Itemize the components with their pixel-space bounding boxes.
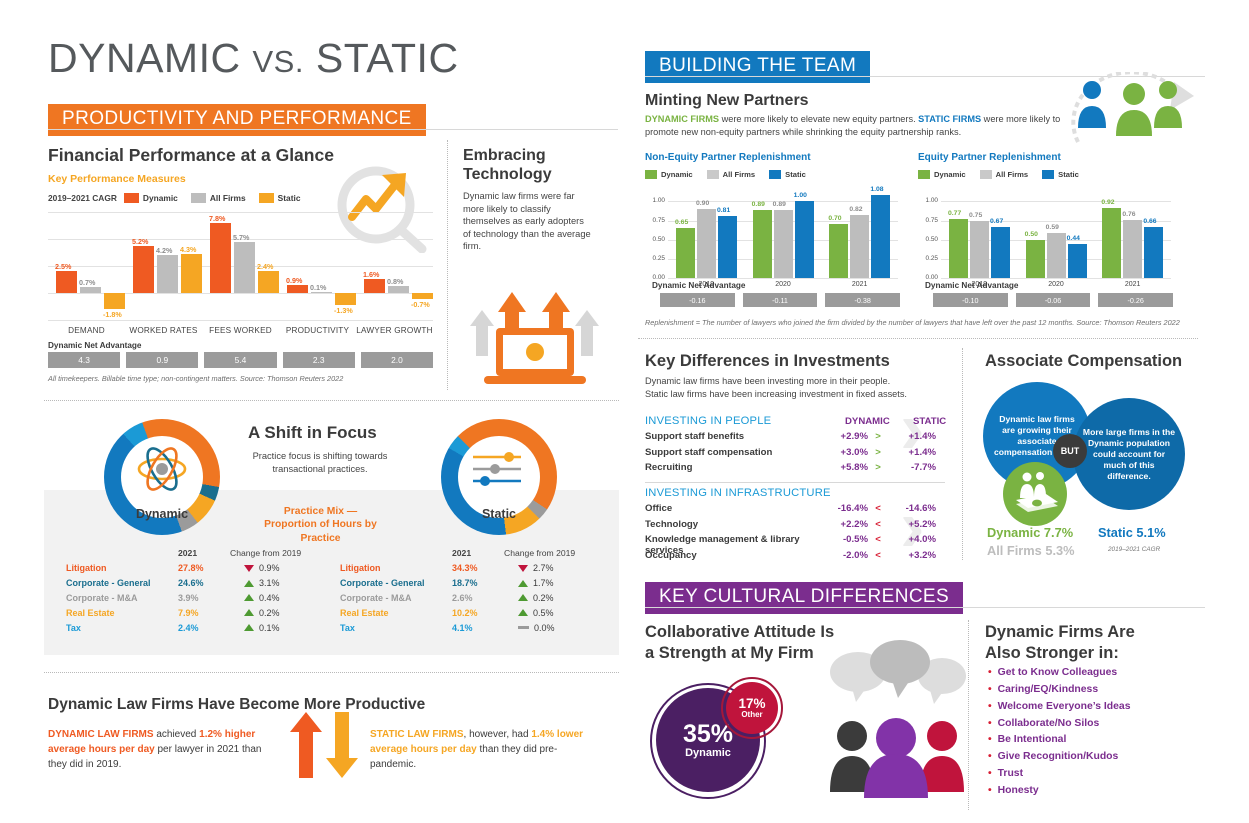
legend-label-all-firms: All Firms <box>723 170 756 179</box>
associate-static-stat: Static 5.1% <box>1098 525 1166 540</box>
change-value: 0.2% <box>259 608 280 618</box>
section-banner-cultural: KEY CULTURAL DIFFERENCES <box>645 582 963 614</box>
shift-section-separator <box>44 400 619 401</box>
dna-value: 0.9 <box>126 352 198 368</box>
collaborative-heading-line2: a Strength at My Firm <box>645 643 834 664</box>
chart1-legend: 2019–2021 CAGR Dynamic All Firms Static <box>48 193 306 203</box>
list-item: Be Intentional <box>988 732 1130 749</box>
more-productive-right-text: STATIC LAW FIRMS, however, had 1.4% lowe… <box>370 727 595 772</box>
practice-change: 0.2% <box>504 593 590 603</box>
associate-bubble-right: More large firms in the Dynamic populati… <box>1073 398 1185 510</box>
bar-label: 4.3% <box>180 245 196 254</box>
bar-label: 0.76 <box>1122 211 1135 218</box>
bar-label: 0.44 <box>1067 235 1080 242</box>
investment-name: Occupancy <box>645 550 820 561</box>
practice-name: Real Estate <box>66 608 178 618</box>
kpm-label: Key Performance Measures <box>48 173 186 185</box>
stronger-in-heading-line2: Also Stronger in: <box>985 643 1135 664</box>
triangle-up-icon <box>244 580 254 587</box>
bar-dynamic <box>753 210 772 278</box>
bar-dynamic <box>210 223 231 293</box>
bar-static <box>1144 227 1163 278</box>
bar-label: 0.7% <box>79 278 95 287</box>
bar-static <box>412 293 433 299</box>
y-tick-label: 0.25 <box>653 256 668 262</box>
title-word-dynamic: DYNAMIC <box>48 35 241 81</box>
practice-value: 2.6% <box>452 593 504 603</box>
comparison-operator: > <box>868 431 888 442</box>
change-value: 0.2% <box>533 593 554 603</box>
col-blank <box>66 548 178 558</box>
triangle-up-icon <box>244 609 254 616</box>
practice-value: 10.2% <box>452 608 504 618</box>
col-2021: 2021 <box>452 548 504 558</box>
practice-name: Corporate - General <box>340 578 452 588</box>
legend-swatch-dynamic <box>918 170 930 179</box>
technology-laptop-icon <box>462 252 607 387</box>
table-row: Tax4.1%0.0% <box>340 620 590 635</box>
legend-item-all-firms: All Firms <box>980 170 1029 179</box>
investment-row: Support staff benefits+2.9%>+1.4% <box>645 431 945 442</box>
list-item: Collaborate/No Silos <box>988 716 1130 733</box>
investment-static-value: +3.2% <box>888 550 936 561</box>
change-value: 1.7% <box>533 578 554 588</box>
list-item: Honesty <box>988 783 1130 800</box>
bar-static <box>181 254 202 293</box>
bar-static <box>795 201 814 278</box>
bar-label: 0.70 <box>828 215 841 222</box>
triangle-down-icon <box>518 565 528 572</box>
dynamic-net-advantage-label-1: Dynamic Net Advantage <box>48 341 141 350</box>
bar-label: 0.1% <box>310 283 326 292</box>
y-tick-label: 0.75 <box>926 218 941 224</box>
table-row: Corporate - M&A3.9%0.4% <box>66 591 316 606</box>
technology-divider <box>447 140 448 390</box>
bar-label: 4.2% <box>156 246 172 255</box>
practice-value: 2.4% <box>178 623 230 633</box>
bar-dynamic <box>364 279 385 293</box>
donut-chart-dynamic: Dynamic <box>104 419 220 535</box>
list-item: Caring/EQ/Kindness <box>988 682 1130 699</box>
practice-change: 1.7% <box>504 578 590 588</box>
bar-label: -1.8% <box>103 310 122 319</box>
bar-static <box>718 216 737 278</box>
bar-static <box>258 271 279 293</box>
legend-item-all-firms: All Firms <box>191 193 246 203</box>
practice-value: 34.3% <box>452 563 504 573</box>
triangle-down-icon <box>244 565 254 572</box>
replenishment-note: Replenishment = The number of lawyers wh… <box>645 318 1185 327</box>
money-people-icon <box>1012 470 1060 518</box>
practice-change: 0.1% <box>230 623 316 633</box>
investments-divider <box>645 482 945 483</box>
legend-item-dynamic: Dynamic <box>918 170 966 179</box>
change-value: 2.7% <box>533 563 554 573</box>
associate-static-value: 5.1% <box>1136 525 1165 540</box>
change-value: 0.5% <box>533 608 554 618</box>
dna-value: -0.26 <box>1098 293 1173 307</box>
associate-allfirms-value: 5.3% <box>1045 543 1074 558</box>
bar-dynamic <box>829 224 848 278</box>
comparison-operator: > <box>868 462 888 473</box>
left-mid-text: achieved <box>154 729 200 740</box>
dna-row-equity: -0.10 -0.06 -0.26 <box>933 293 1173 307</box>
practice-mix-title-line2: Proportion of Hours by Practice <box>243 518 398 545</box>
investing-in-infrastructure-header: INVESTING IN INFRASTRUCTURE <box>645 487 831 499</box>
dynamic-net-advantage-row-1: 4.3 0.9 5.4 2.3 2.0 <box>48 352 433 368</box>
bar-all-firms <box>1047 233 1066 278</box>
bar-label: 2.4% <box>257 262 273 271</box>
bar-dynamic <box>676 228 695 278</box>
practice-table-header-static: 2021 Change from 2019 <box>340 548 590 561</box>
dna-value: 4.3 <box>48 352 120 368</box>
associate-allfirms-stat: All Firms 5.3% <box>987 543 1075 558</box>
y-tick-label: 1.00 <box>926 198 941 204</box>
dash-icon <box>518 626 529 629</box>
bar-all-firms <box>80 287 101 293</box>
dynamic-firms-label: DYNAMIC FIRMS <box>645 114 719 124</box>
bar-static <box>871 195 890 278</box>
triangle-up-icon <box>244 594 254 601</box>
chart1-x-axis: DEMAND WORKED RATES FEES WORKED PRODUCTI… <box>48 326 433 335</box>
stronger-in-list: Get to Know ColleaguesCaring/EQ/Kindness… <box>988 665 1130 800</box>
associate-allfirms-label: All Firms <box>987 543 1042 558</box>
bar-static <box>335 293 356 305</box>
gridline <box>941 201 1171 202</box>
infographic-page: DYNAMIC VS. STATIC PRODUCTIVITY AND PERF… <box>0 0 1249 823</box>
investments-heading: Key Differences in Investments <box>645 352 890 371</box>
bar-all-firms <box>850 215 869 278</box>
dna-value: -0.10 <box>933 293 1008 307</box>
practice-table-static: 2021 Change from 2019 Litigation34.3%2.7… <box>340 548 590 635</box>
practice-value: 24.6% <box>178 578 230 588</box>
axis-label-demand: DEMAND <box>48 326 125 335</box>
chart-nonequity-plot: 0.000.250.500.751.000.650.900.8120190.89… <box>668 190 898 278</box>
comparison-operator: < <box>868 519 888 530</box>
legend-item-dynamic: Dynamic <box>645 170 693 179</box>
bar-dynamic <box>949 219 968 278</box>
practice-mix-title: Practice Mix — Proportion of Hours by Pr… <box>243 505 398 545</box>
change-value: 0.9% <box>259 563 280 573</box>
axis-label-worked-rates: WORKED RATES <box>125 326 202 335</box>
investment-name: Technology <box>645 519 820 530</box>
bar-all-firms <box>1123 220 1142 278</box>
investment-name: Support staff compensation <box>645 447 820 458</box>
donut-chart-static: Static <box>441 419 557 535</box>
practice-value: 4.1% <box>452 623 504 633</box>
legend-label-all-firms: All Firms <box>210 193 246 203</box>
bars-lines-icon <box>469 449 527 489</box>
right-mid-text: , however, had <box>464 729 532 740</box>
practice-value: 27.8% <box>178 563 230 573</box>
bar-dynamic <box>287 285 308 293</box>
practice-change: 0.5% <box>504 608 590 618</box>
associate-divider <box>962 348 963 560</box>
banner-rule-cultural <box>645 607 1205 608</box>
x-tick-label: 2020 <box>1018 281 1095 288</box>
dna-value: 2.3 <box>283 352 355 368</box>
comparison-operator: > <box>868 447 888 458</box>
investment-static-value: +4.0% <box>888 534 936 545</box>
dynamic-firms-bold: DYNAMIC LAW FIRMS <box>48 729 154 740</box>
collaboration-people-icon <box>822 640 967 800</box>
practice-name: Real Estate <box>340 608 452 618</box>
collaborative-heading: Collaborative Attitude Is a Strength at … <box>645 622 834 663</box>
up-down-arrows-icon <box>288 712 360 778</box>
bar-all-firms <box>311 292 332 293</box>
bar-all-firms <box>970 221 989 278</box>
investment-dynamic-value: +5.8% <box>820 462 868 473</box>
associate-dynamic-value: 7.7% <box>1044 525 1073 540</box>
bar-all-firms <box>234 242 255 293</box>
change-value: 0.1% <box>259 623 280 633</box>
investment-name: Support staff benefits <box>645 431 820 442</box>
dna-value: -0.16 <box>660 293 735 307</box>
investment-dynamic-value: -2.0% <box>820 550 868 561</box>
legend-swatch-dynamic <box>645 170 657 179</box>
col-change: Change from 2019 <box>230 548 316 558</box>
col-change: Change from 2019 <box>504 548 590 558</box>
practice-change: 0.2% <box>230 608 316 618</box>
bar-label: 5.7% <box>233 233 249 242</box>
bar-label: 0.82 <box>849 206 862 213</box>
x-tick-label: 2021 <box>821 281 898 288</box>
table-row: Corporate - General18.7%1.7% <box>340 576 590 591</box>
change-value: 0.4% <box>259 593 280 603</box>
practice-change: 3.1% <box>230 578 316 588</box>
minting-partners-heading: Minting New Partners <box>645 92 809 110</box>
investment-static-value: +1.4% <box>888 447 936 458</box>
practice-change: 2.7% <box>504 563 590 573</box>
bar-label: 5.2% <box>132 237 148 246</box>
investment-row: Office-16.4%<-14.6% <box>645 503 945 514</box>
practice-name: Litigation <box>66 563 178 573</box>
col-blank <box>340 548 452 558</box>
practice-table-dynamic: 2021 Change from 2019 Litigation27.8%0.9… <box>66 548 316 635</box>
stronger-in-heading: Dynamic Firms Are Also Stronger in: <box>985 622 1135 663</box>
practice-value: 3.9% <box>178 593 230 603</box>
legend-item-static: Static <box>259 193 301 203</box>
bubble-other-label: Other <box>741 710 762 719</box>
investment-dynamic-value: +2.9% <box>820 431 868 442</box>
investment-static-value: +1.4% <box>888 431 936 442</box>
bar-all-firms <box>388 286 409 293</box>
bar-label: 0.59 <box>1046 224 1059 231</box>
chart-nonequity-title: Non-Equity Partner Replenishment <box>645 152 811 163</box>
investments-separator <box>638 338 1198 339</box>
practice-name: Litigation <box>340 563 452 573</box>
bar-label: 0.67 <box>990 218 1003 225</box>
chart-key-performance-measures: 2.5%0.7%-1.8%5.2%4.2%4.3%7.8%5.7%2.4%0.9… <box>48 212 433 330</box>
associate-dynamic-label: Dynamic <box>987 525 1040 540</box>
bar-dynamic <box>1026 240 1045 278</box>
table-row: Real Estate7.9%0.2% <box>66 605 316 620</box>
donut-label-static: Static <box>441 507 557 521</box>
technology-heading-line1: Embracing <box>463 146 552 165</box>
productive-section-separator <box>44 672 619 673</box>
bar-label: 1.00 <box>794 192 807 199</box>
investment-dynamic-value: +2.2% <box>820 519 868 530</box>
triangle-up-icon <box>244 624 254 631</box>
comparison-operator: < <box>868 534 888 545</box>
practice-change: 0.9% <box>230 563 316 573</box>
legend-cagr-label: 2019–2021 CAGR <box>48 193 117 203</box>
gridline <box>668 278 898 279</box>
col-header-static: STATIC <box>913 416 946 427</box>
bar-label: 0.50 <box>1025 231 1038 238</box>
dna-value: -0.06 <box>1016 293 1091 307</box>
associate-compensation-heading: Associate Compensation <box>985 352 1182 371</box>
table-row: Corporate - M&A2.6%0.2% <box>340 591 590 606</box>
cultural-divider <box>968 620 969 810</box>
practice-name: Tax <box>340 623 452 633</box>
bar-static <box>1068 244 1087 278</box>
legend-label-dynamic: Dynamic <box>934 170 966 179</box>
investment-dynamic-value: -0.5% <box>820 534 868 545</box>
bar-label: 0.65 <box>675 219 688 226</box>
bar-all-firms <box>774 210 793 278</box>
practice-name: Corporate - M&A <box>66 593 178 603</box>
axis-label-fees-worked: FEES WORKED <box>202 326 279 335</box>
bar-label: 0.9% <box>286 276 302 285</box>
bubble-dynamic-label: Dynamic <box>685 747 731 759</box>
y-tick-label: 0.50 <box>653 237 668 243</box>
change-value: 3.1% <box>259 578 280 588</box>
body-text-1: were more likely to elevate new equity p… <box>719 114 918 124</box>
technology-heading: Embracing Technology <box>463 146 552 184</box>
x-tick-label: 2021 <box>1094 281 1171 288</box>
bar-label: 0.66 <box>1143 218 1156 225</box>
practice-table-header-dynamic: 2021 Change from 2019 <box>66 548 316 561</box>
bar-label: 0.8% <box>387 277 403 286</box>
change-value: 0.0% <box>534 623 555 633</box>
minting-partners-body: DYNAMIC FIRMS were more likely to elevat… <box>645 113 1065 139</box>
dna-value: -0.38 <box>825 293 900 307</box>
y-tick-label: 0.75 <box>653 218 668 224</box>
practice-change: 0.0% <box>504 623 590 633</box>
legend-item-dynamic: Dynamic <box>124 193 178 203</box>
col-header-dynamic: DYNAMIC <box>845 416 890 427</box>
bar-label: 1.6% <box>363 270 379 279</box>
shift-in-focus-heading: A Shift in Focus <box>248 423 377 443</box>
investment-name: Recruiting <box>645 462 820 473</box>
associate-cagr-note: 2019–2021 CAGR <box>1108 546 1160 553</box>
dna-label-equity: Dynamic Net Advantage <box>925 281 1018 290</box>
bar-dynamic <box>133 246 154 293</box>
gridline <box>941 278 1171 279</box>
title-word-vs: VS. <box>252 44 303 79</box>
associate-dynamic-stat: Dynamic 7.7% <box>987 525 1073 540</box>
dna-value: -0.11 <box>743 293 818 307</box>
donut-label-dynamic: Dynamic <box>104 507 220 521</box>
table-row: Litigation34.3%2.7% <box>340 561 590 576</box>
practice-value: 18.7% <box>452 578 504 588</box>
bar-label: 0.75 <box>969 212 982 219</box>
list-item: Welcome Everyone’s Ideas <box>988 699 1130 716</box>
comparison-operator: < <box>868 503 888 514</box>
more-productive-heading: Dynamic Law Firms Have Become More Produ… <box>48 696 425 714</box>
practice-name: Corporate - M&A <box>340 593 452 603</box>
list-item: Get to Know Colleagues <box>988 665 1130 682</box>
bar-all-firms <box>157 255 178 293</box>
financial-performance-heading: Financial Performance at a Glance <box>48 145 334 166</box>
banner-rule-productivity <box>48 129 618 130</box>
chart-nonequity-legend: Dynamic All Firms Static <box>645 170 812 179</box>
static-firms-bold: STATIC LAW FIRMS <box>370 729 464 740</box>
legend-label-static: Static <box>1058 170 1079 179</box>
legend-item-static: Static <box>769 170 806 179</box>
shift-in-focus-subtitle: Practice focus is shifting towards trans… <box>240 450 400 475</box>
chart-equity-plot: 0.000.250.500.751.000.770.750.6720190.50… <box>941 190 1171 278</box>
legend-item-static: Static <box>1042 170 1079 179</box>
axis-label-lawyer-growth: LAWYER GROWTH <box>356 326 433 335</box>
collaborative-heading-line1: Collaborative Attitude Is <box>645 622 834 643</box>
legend-label-static: Static <box>278 193 301 203</box>
triangle-up-icon <box>518 580 528 587</box>
axis-label-productivity: PRODUCTIVITY <box>279 326 356 335</box>
y-tick-label: 0.50 <box>926 237 941 243</box>
bar-dynamic <box>56 271 77 294</box>
legend-label-dynamic: Dynamic <box>661 170 693 179</box>
legend-item-all-firms: All Firms <box>707 170 756 179</box>
comparison-operator: < <box>868 550 888 561</box>
legend-swatch-all-firms <box>980 170 992 179</box>
practice-mix-title-line1: Practice Mix — <box>243 505 398 518</box>
section-banner-productivity: PRODUCTIVITY AND PERFORMANCE <box>48 104 426 136</box>
table-row: Litigation27.8%0.9% <box>66 561 316 576</box>
legend-swatch-static <box>1042 170 1054 179</box>
chart-equity-legend: Dynamic All Firms Static <box>918 170 1085 179</box>
bar-all-firms <box>697 209 716 278</box>
bubble-other-value: 17% <box>738 697 765 711</box>
bar-static <box>104 293 125 309</box>
dna-label-nonequity: Dynamic Net Advantage <box>652 281 745 290</box>
bar-label: 2.5% <box>55 262 71 271</box>
title-word-static: STATIC <box>316 35 459 81</box>
legend-swatch-all-firms <box>707 170 719 179</box>
bar-label: 0.81 <box>717 207 730 214</box>
bar-label: 0.77 <box>948 210 961 217</box>
dna-value: 2.0 <box>361 352 433 368</box>
more-productive-left-text: DYNAMIC LAW FIRMS achieved 1.2% higher a… <box>48 727 273 772</box>
investment-name: Office <box>645 503 820 514</box>
investment-row: Occupancy-2.0%<+3.2% <box>645 550 945 561</box>
list-item: Give Recognition/Kudos <box>988 749 1130 766</box>
section-banner-team: BUILDING THE TEAM <box>645 51 870 83</box>
col-2021: 2021 <box>178 548 230 558</box>
bubble-other: 17% Other <box>726 682 778 734</box>
bar-label: 0.92 <box>1101 199 1114 206</box>
bar-label: 0.89 <box>773 201 786 208</box>
bar-label: 7.8% <box>209 214 225 223</box>
bar-label: 0.89 <box>752 201 765 208</box>
chart1-source-note: All timekeepers. Billable time type; non… <box>48 374 343 383</box>
stronger-in-heading-line1: Dynamic Firms Are <box>985 622 1135 643</box>
triangle-up-icon <box>518 609 528 616</box>
dna-value: 5.4 <box>204 352 276 368</box>
investment-static-value: -7.7% <box>888 462 936 473</box>
team-people-icon <box>1070 72 1200 147</box>
investment-static-value: +5.2% <box>888 519 936 530</box>
x-tick-label: 2020 <box>745 281 822 288</box>
page-title: DYNAMIC VS. STATIC <box>48 35 459 82</box>
triangle-up-icon <box>518 594 528 601</box>
bar-static <box>991 227 1010 278</box>
static-firms-label: STATIC FIRMS <box>918 114 981 124</box>
dna-row-nonequity: -0.16 -0.11 -0.38 <box>660 293 900 307</box>
table-row: Tax2.4%0.1% <box>66 620 316 635</box>
investment-row: Support staff compensation+3.0%>+1.4% <box>645 447 945 458</box>
